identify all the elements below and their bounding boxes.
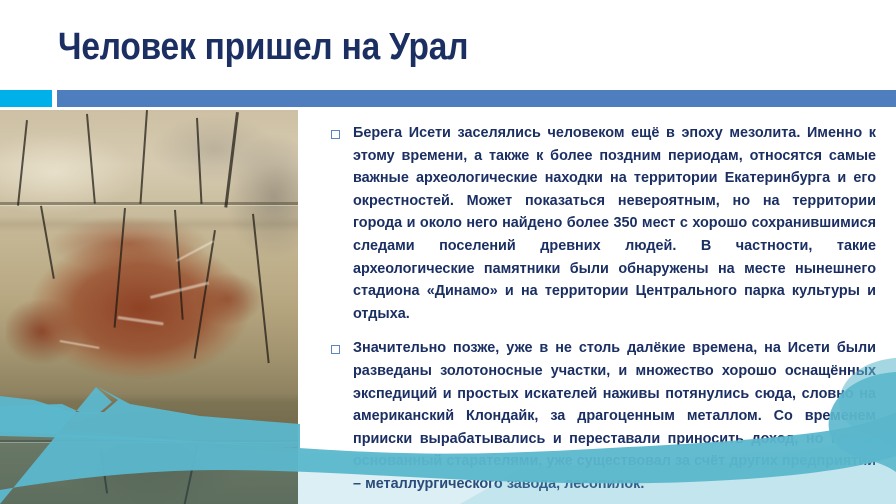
ochre-bison-figure (6, 228, 264, 406)
list-item-label: Значительно позже, уже в не столь далёки… (353, 337, 876, 495)
list-item: Берега Исети заселялись человеком ещё в … (326, 122, 876, 325)
list-item-label: Берега Исети заселялись человеком ещё в … (353, 122, 876, 325)
divider-bar (57, 90, 896, 107)
presentation-slide: Человек пришел на Урал (0, 0, 896, 504)
list-item: Значительно позже, уже в не столь далёки… (326, 337, 876, 495)
slide-title-area: Человек пришел на Урал (0, 0, 896, 88)
rock-seam (0, 440, 298, 442)
hollow-square-bullet-icon (331, 345, 340, 354)
page-title: Человек пришел на Урал (58, 24, 468, 70)
rock-seam (0, 202, 298, 205)
slide-body-text: Берега Исети заселялись человеком ещё в … (326, 122, 876, 504)
cave-image-content (0, 110, 298, 504)
cave-painting-image (0, 110, 298, 504)
title-divider (0, 90, 896, 107)
hollow-square-bullet-icon (331, 130, 340, 139)
divider-accent-block (0, 90, 52, 107)
